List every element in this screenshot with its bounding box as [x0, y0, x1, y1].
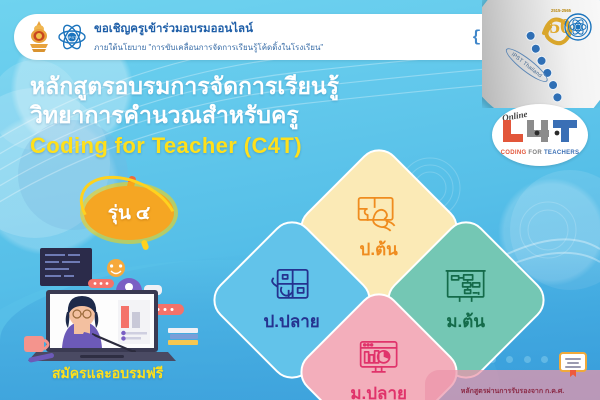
- header-bar: IPST ขอเชิญครูเข้าร่วมอบรมออนไลน์ ภายใต้…: [14, 14, 519, 60]
- svg-text:IPST: IPST: [68, 35, 77, 40]
- header-subheadline: ภายใต้นโยบาย "การขับเคลื่อนการจัดการเรีย…: [94, 43, 323, 52]
- batch-badge: รุ่น ๔: [84, 186, 174, 240]
- 50th-anniversary-seal-icon: 2515-2565 50: [538, 3, 594, 55]
- thai-royal-emblem-icon: [26, 20, 52, 54]
- puzzle-hand-icon: [356, 194, 402, 234]
- title-line-2: วิทยาการคำนวณสำหรับครู: [30, 101, 460, 130]
- svg-text:2515-2565: 2515-2565: [551, 8, 572, 13]
- batch-label: รุ่น: [108, 198, 131, 228]
- flowchart-board-icon: [443, 266, 489, 306]
- card-label-pathom-ton: ป.ต้น: [360, 236, 398, 263]
- certificate-icon: [558, 352, 588, 378]
- card-label-pathom-plai: ป.ปลาย: [264, 308, 320, 335]
- batch-number: ๔: [136, 198, 150, 228]
- header-headline: ขอเชิญครูเข้าร่วมอบรมออนไลน์: [94, 23, 253, 35]
- title-line-1: หลักสูตรอบรมการจัดการเรียนรู้: [30, 72, 460, 101]
- certification-text: หลักสูตรผ่านการรับรองจาก ก.ค.ศ.: [461, 386, 564, 397]
- data-dashboard-icon: [356, 338, 402, 378]
- c4t-subtitle: CODING FOR TEACHERS: [492, 150, 588, 156]
- card-label-matthayom-ton: ม.ต้น: [447, 308, 486, 335]
- header-text-block: ขอเชิญครูเข้าร่วมอบรมออนไลน์ ภายใต้นโยบา…: [94, 19, 466, 55]
- c4t-logo: Online CODING FOR TEACHERS: [492, 104, 588, 166]
- main-title: หลักสูตรอบรมการจัดการเรียนรู้ วิทยาการคำ…: [30, 72, 460, 160]
- c4t-letters-icon: [501, 116, 581, 146]
- c4t-sub-teachers: TEACHERS: [544, 150, 579, 156]
- card-label-matthayom-plai: ม.ปลาย: [351, 380, 408, 400]
- online-teacher-laptop-illustration: [22, 248, 207, 368]
- tiktok-icon[interactable]: [546, 78, 560, 92]
- free-registration-text: สมัครและอบรมฟรี: [52, 363, 163, 385]
- facebook-icon[interactable]: [524, 29, 538, 43]
- poster-canvas: IPST ขอเชิญครูเข้าร่วมอบรมออนไลน์ ภายใต้…: [0, 0, 600, 400]
- c4t-sub-coding: CODING: [501, 150, 527, 156]
- title-line-english: Coding for Teacher (C4T): [30, 132, 460, 161]
- ipst-atom-logo-icon: IPST: [57, 22, 87, 52]
- block-coding-drag-icon: [269, 266, 315, 306]
- c4t-sub-for: FOR: [528, 150, 542, 156]
- course-level-cards: ป.ต้น ป.ปลาย: [222, 176, 582, 376]
- certification-badge: หลักสูตรผ่านการรับรองจาก ก.ค.ศ.: [425, 370, 600, 400]
